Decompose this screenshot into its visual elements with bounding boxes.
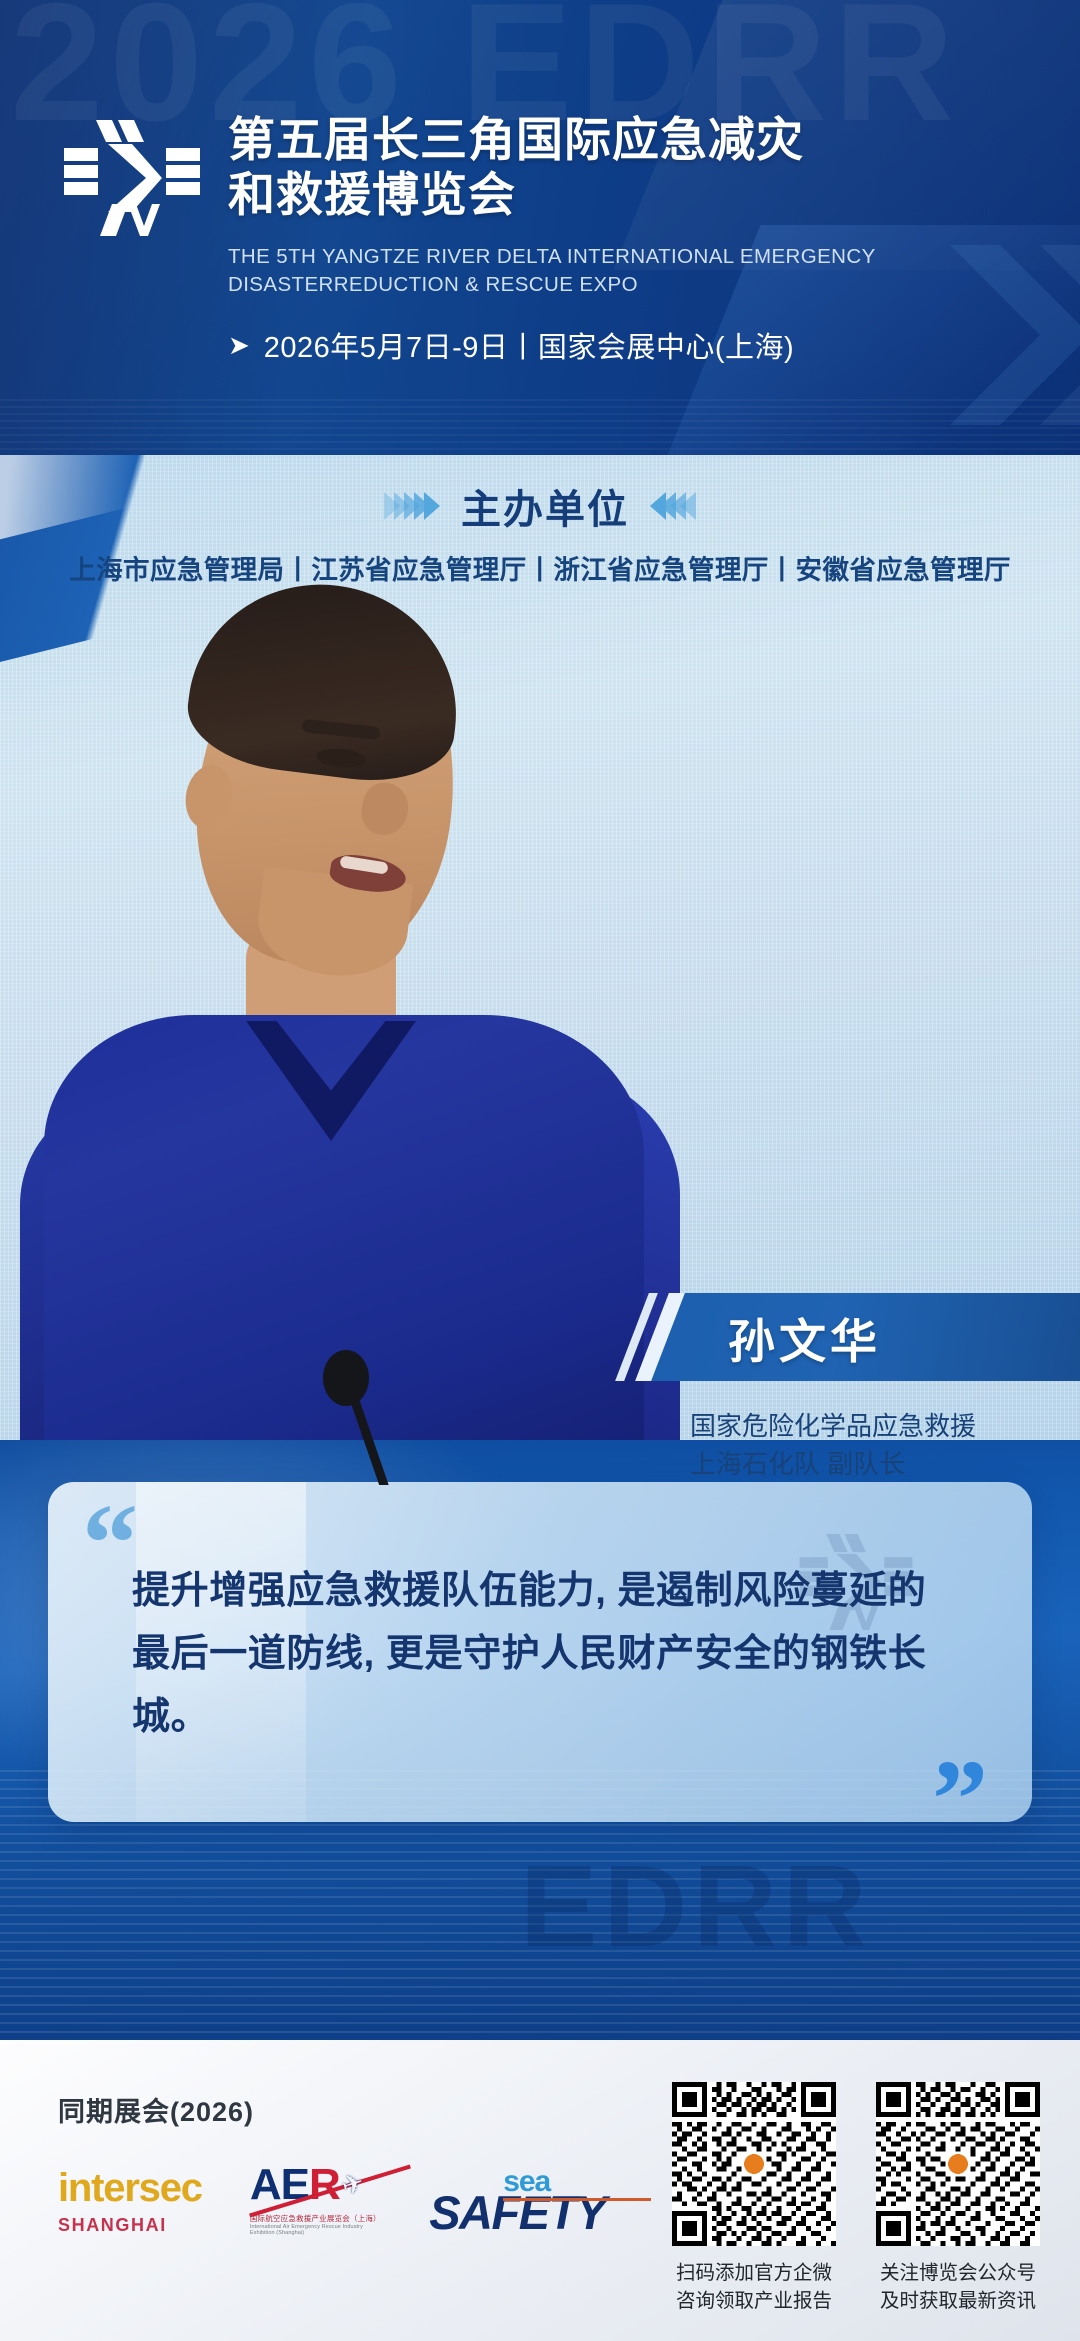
quote-text: 提升增强应急救援队伍能力, 是遏制风险蔓延的最后一道防线, 更是守护人民财产安全… xyxy=(132,1560,948,1749)
speaker-name: 孙文华 xyxy=(728,1303,881,1372)
expo-wechat-official-qr-icon[interactable] xyxy=(876,2082,1040,2246)
qr-wechat-caption-line1: 关注博览会公众号 xyxy=(876,2260,1040,2288)
speaker-role: 国家危险化学品应急救援 上海石化队 副队长 xyxy=(690,1407,1070,1484)
speaker-photo-area: 主办单位 上海市应急管理局丨江苏省应急管理厅丨浙江省应急管理厅丨安徽省应急管理厅 xyxy=(0,455,1080,1485)
official-wecom-qr-icon[interactable] xyxy=(672,2082,836,2246)
qr-code-group: 扫码添加官方企微 咨询领取产业报告 xyxy=(672,2082,1040,2315)
header-stripe-texture xyxy=(0,399,1080,455)
quote-section: EDRR “ 提升增强应急救援队伍能力, 是遏制风险蔓延的最后一道防线, 更是守… xyxy=(0,1440,1080,2040)
aer-logo[interactable]: AER ✈ 国际航空应急救援产业展览会（上海） International Ai… xyxy=(250,2163,381,2236)
quote-open-mark: “ xyxy=(82,1488,138,1600)
qr-item-wecom[interactable]: 扫码添加官方企微 咨询领取产业报告 xyxy=(672,2082,836,2315)
qr-wecom-caption-line2: 咨询领取产业报告 xyxy=(672,2288,836,2316)
expo-title-cn-line2: 和救援博览会 xyxy=(228,167,988,222)
poster-header: 2026 EDRR 第五届长三角国际应急减灾 xyxy=(0,0,1080,455)
qr-item-wechat[interactable]: 关注博览会公众号 及时获取最新资讯 xyxy=(876,2082,1040,2315)
sea-logo-primary: sea xyxy=(503,2167,550,2197)
aer-logo-secondary: 国际航空应急救援产业展览会（上海） xyxy=(250,2214,381,2224)
poster-footer: 同期展会(2026) intersec SHANGHAI AER ✈ 国际航空应… xyxy=(0,2040,1080,2341)
partner-logo-row: intersec SHANGHAI AER ✈ 国际航空应急救援产业展览会（上海… xyxy=(58,2163,618,2236)
qr-wechat-caption-line2: 及时获取最新资讯 xyxy=(876,2288,1040,2316)
date-venue-text: 2026年5月7日-9日丨国家会展中心(上海) xyxy=(264,324,794,366)
qr-wechat-caption: 关注博览会公众号 及时获取最新资讯 xyxy=(876,2260,1040,2315)
quote-section-watermark: EDRR xyxy=(520,1848,873,1964)
microphone-head-icon xyxy=(323,1350,369,1406)
speaker-portrait xyxy=(10,455,690,1485)
concurrent-exhibitions-block: 同期展会(2026) intersec SHANGHAI AER ✈ 国际航空应… xyxy=(58,2090,618,2236)
concurrent-exhibitions-label: 同期展会(2026) xyxy=(58,2090,618,2129)
qr-wecom-caption-line1: 扫码添加官方企微 xyxy=(672,2260,836,2288)
quote-card: “ 提升增强应急救援队伍能力, 是遏制风险蔓延的最后一道防线, 更是守护人民财产… xyxy=(48,1482,1032,1822)
arrow-right-icon: ➤ xyxy=(228,332,250,358)
speaker-role-line1: 国家危险化学品应急救援 xyxy=(690,1407,1070,1445)
intersec-logo-secondary: SHANGHAI xyxy=(58,2215,202,2236)
sea-logo-bar xyxy=(503,2198,651,2201)
aer-logo-tertiary: International Air Emergency Rescue Indus… xyxy=(250,2224,381,2236)
expo-title-en-line2: DISASTERREDUCTION & RESCUE EXPO xyxy=(228,271,988,299)
edrr-monogram-logo-icon xyxy=(62,118,202,238)
intersec-shanghai-logo[interactable]: intersec SHANGHAI xyxy=(58,2168,202,2236)
expo-speaker-poster: 2026 EDRR 第五届长三角国际应急减灾 xyxy=(0,0,1080,2341)
quote-close-mark: ” xyxy=(932,1744,988,1822)
sea-safety-logo[interactable]: sea SAFETY xyxy=(429,2171,618,2236)
header-text-block: 第五届长三角国际应急减灾 和救援博览会 THE 5TH YANGTZE RIVE… xyxy=(228,112,988,366)
date-venue-row: ➤ 2026年5月7日-9日丨国家会展中心(上海) xyxy=(228,324,988,366)
expo-title-en-line1: THE 5TH YANGTZE RIVER DELTA INTERNATIONA… xyxy=(228,243,988,271)
qr-wecom-caption: 扫码添加官方企微 咨询领取产业报告 xyxy=(672,2260,836,2315)
expo-title-cn-line1: 第五届长三角国际应急减灾 xyxy=(228,112,988,167)
intersec-logo-primary: intersec xyxy=(58,2168,202,2208)
speaker-role-line2: 上海石化队 副队长 xyxy=(690,1445,1070,1483)
